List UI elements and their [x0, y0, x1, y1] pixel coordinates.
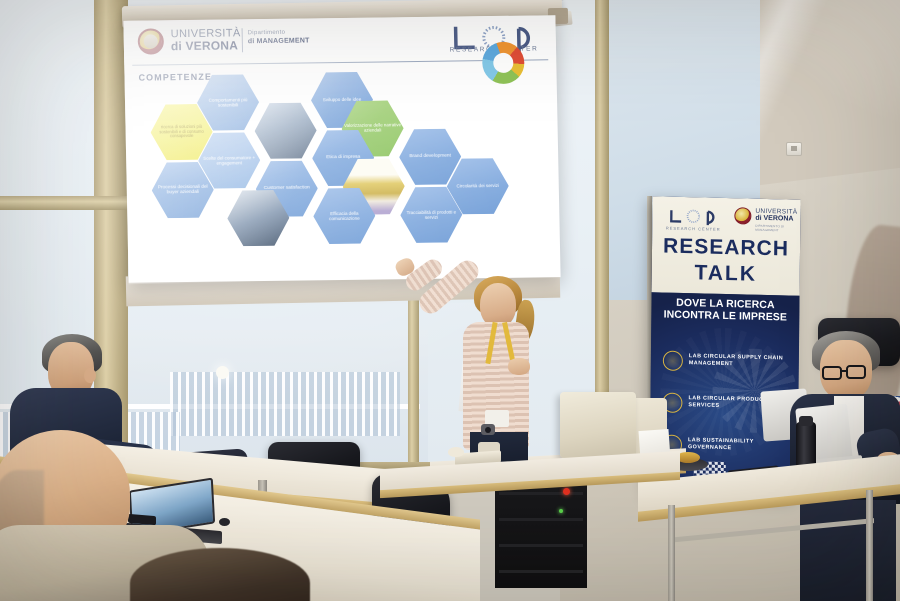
presenter-striped-cardigan: [463, 322, 529, 450]
webcam-lens-icon: [485, 427, 491, 433]
right-table-leg-1: [668, 505, 675, 601]
banner-university-sub: DIPARTIMENTO DI MANAGEMENT: [755, 224, 800, 233]
projection-screen: UNIVERSITÀ di VERONA Dipartimento di MAN…: [123, 15, 560, 283]
slide-title: COMPETENZE: [138, 72, 212, 83]
supply-chain-icon: [663, 350, 683, 370]
presenter-other-hand: [508, 358, 530, 375]
banner-university-seal-icon: [734, 207, 751, 224]
right-table-leg-2: [866, 490, 873, 601]
mouse[interactable]: [448, 447, 464, 457]
banner-headline-research-text: RESEARCH: [663, 234, 789, 260]
department-line1: Dipartimento: [248, 30, 286, 36]
outdoor-lamp: [216, 366, 229, 379]
eyeglasses-icon-left: [822, 366, 842, 380]
pc-activity-led: [559, 509, 563, 513]
university-seal-inner: [144, 34, 158, 48]
desktop-pc-tower: [495, 478, 587, 588]
meeting-photo-hexagon: [254, 101, 317, 160]
window-mullion-vertical-mid: [408, 300, 419, 470]
wall-outlet-socket: [791, 146, 797, 151]
man-glasses-legs: [800, 500, 896, 601]
banner-subtitle: DOVE LA RICERCA INCONTRA LE IMPRESE: [651, 297, 799, 324]
pc-power-led: [563, 488, 570, 495]
man-left-ear: [84, 368, 96, 383]
eyeglasses-bridge: [841, 370, 847, 372]
conference-room-photo: UNIVERSITÀ di VERONA Dipartimento di MAN…: [0, 0, 900, 601]
donut-center: [493, 53, 513, 73]
banner-lab-1: LAB CIRCULAR SUPPLY CHAIN MANAGEMENT: [689, 353, 793, 370]
university-name-line2: di VERONA: [171, 38, 238, 53]
banner-loop-logo-icon: [664, 206, 722, 227]
department-line2: di MANAGEMENT: [248, 37, 310, 45]
banner-headline-research: RESEARCH: [652, 234, 800, 262]
banner-headline-talk: TALK: [652, 260, 800, 288]
bottle-cap[interactable]: [799, 416, 813, 426]
beige-crt-monitor: [560, 392, 636, 458]
window-mullion-horizontal-left: [0, 196, 128, 210]
banner-university-line2: di VERONA: [755, 215, 793, 223]
balcony-railing: [170, 372, 400, 436]
presenter-head: [480, 283, 516, 327]
eyeglasses-icon-right: [846, 365, 866, 379]
mouse-left[interactable]: [219, 518, 230, 526]
